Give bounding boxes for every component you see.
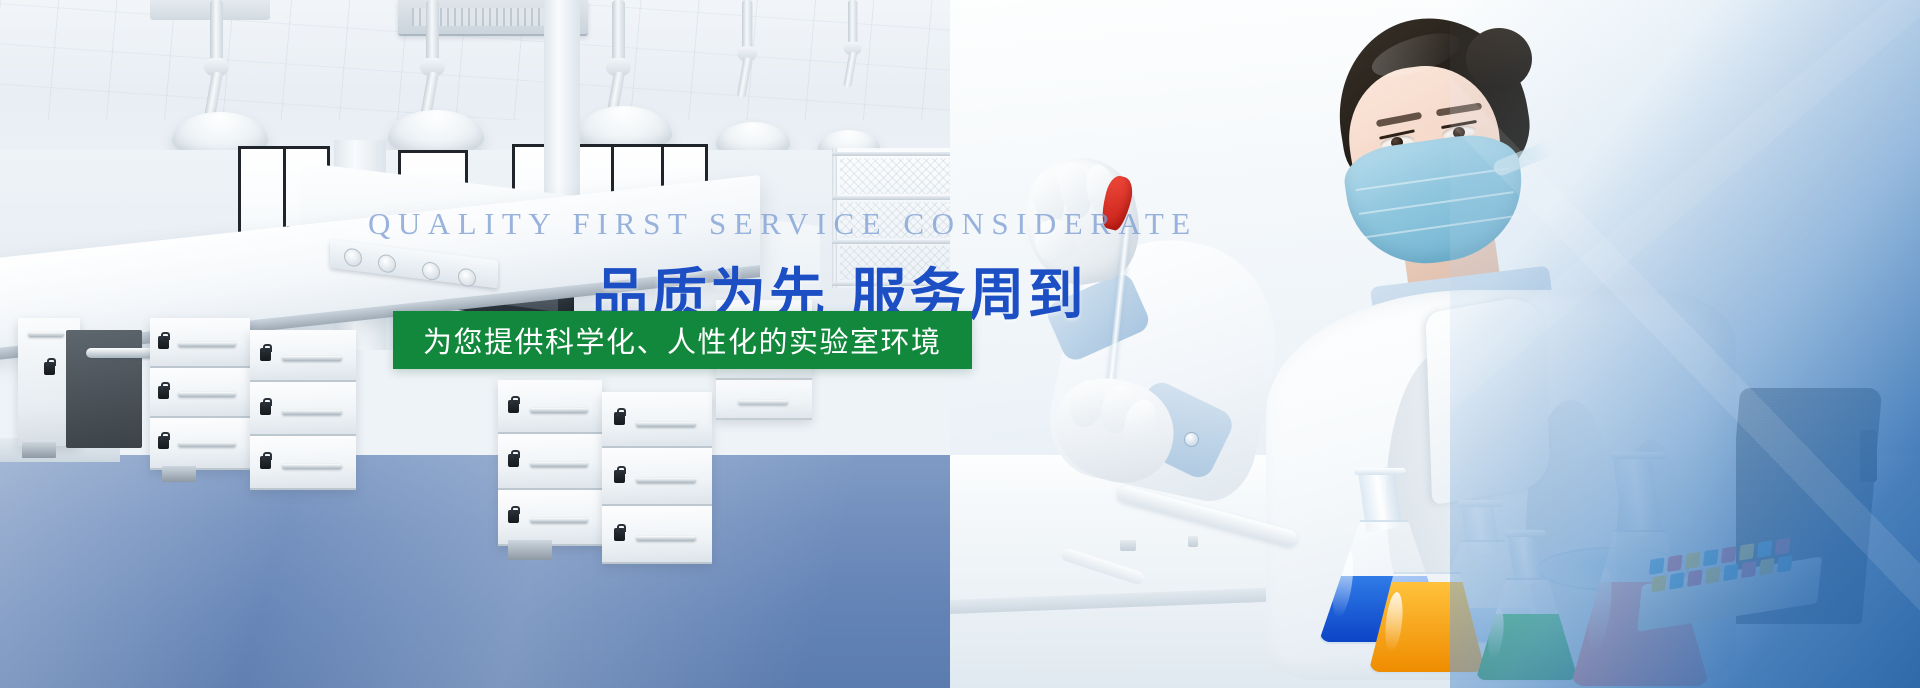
banner-subtitle-text: 为您提供科学化、人性化的实验室环境 <box>423 319 942 361</box>
english-tagline: QUALITY FIRST SERVICE CONSIDERATE <box>368 206 1198 242</box>
banner-text-overlay: QUALITY FIRST SERVICE CONSIDERATE 品质为先 服… <box>0 0 1920 688</box>
banner-subtitle-bar: 为您提供科学化、人性化的实验室环境 <box>393 311 972 369</box>
lab-hero-banner: QUALITY FIRST SERVICE CONSIDERATE 品质为先 服… <box>0 0 1920 688</box>
